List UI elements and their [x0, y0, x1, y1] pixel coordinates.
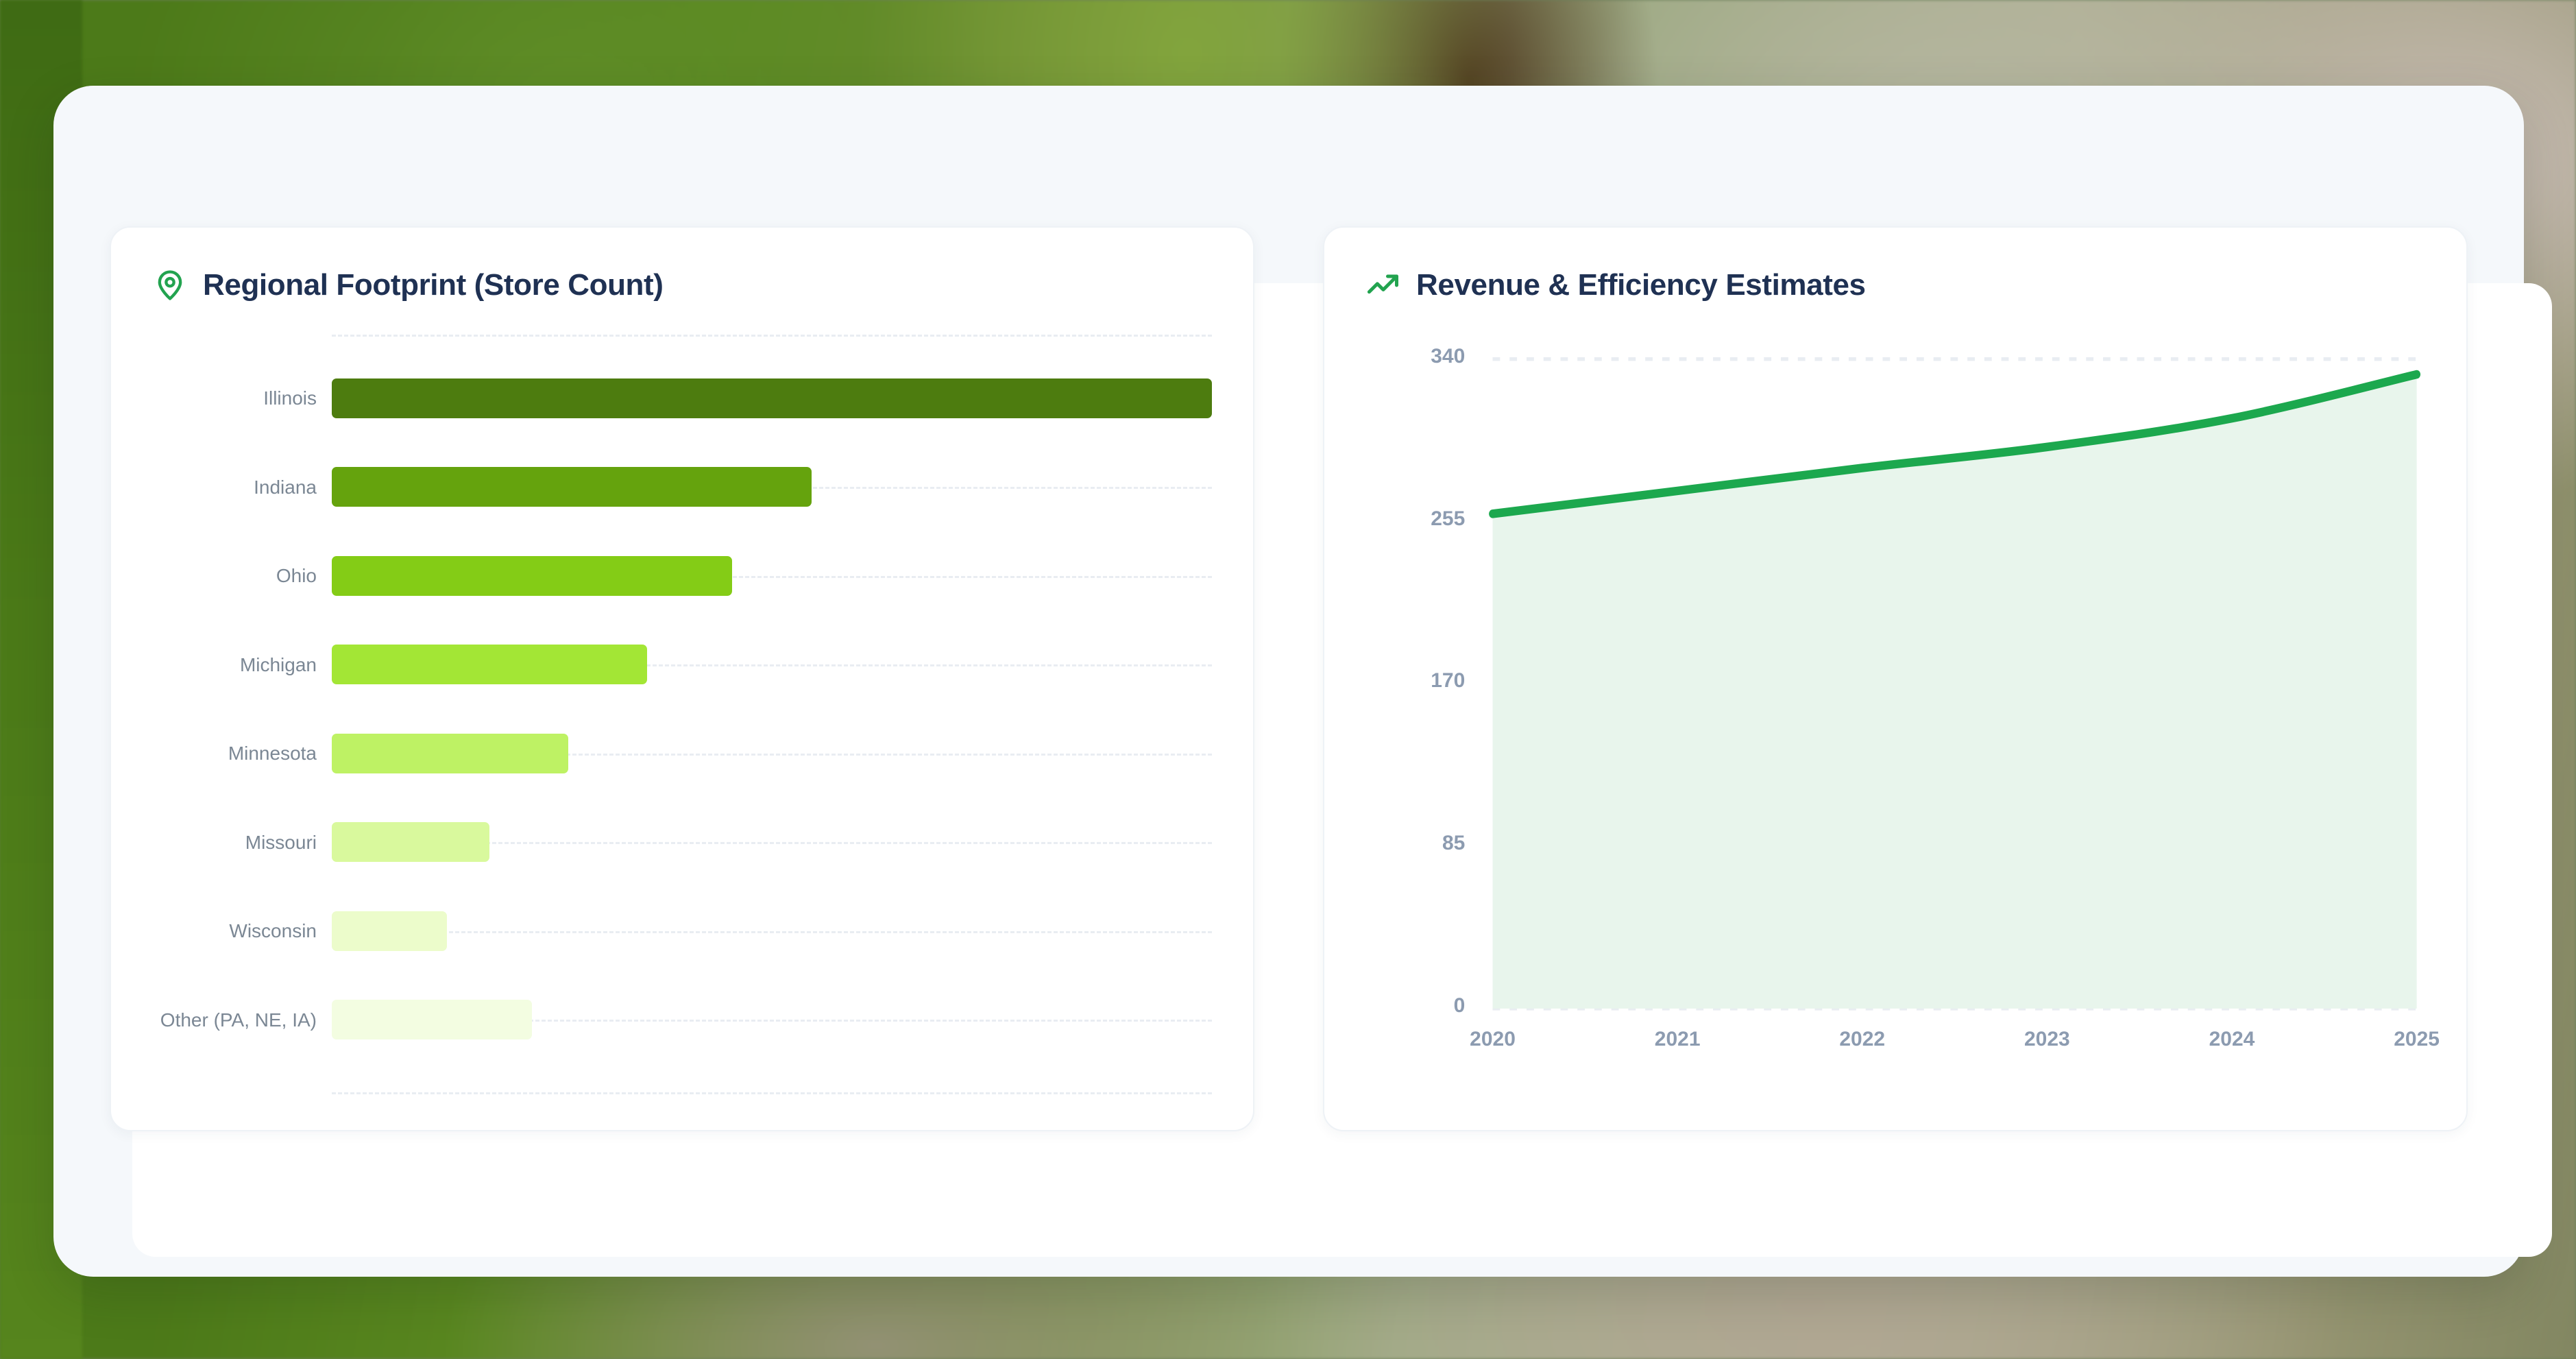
area-x-tick-label: 2025 [2369, 1028, 2465, 1051]
bar-fill[interactable] [332, 911, 447, 951]
area-y-tick-label: 255 [1365, 507, 1465, 531]
bar-track [332, 887, 1212, 976]
bar-row: Ohio [152, 531, 1212, 621]
revenue-efficiency-title: Revenue & Efficiency Estimates [1416, 268, 1866, 302]
bar-row: Indiana [152, 443, 1212, 532]
bar-fill[interactable] [332, 556, 732, 596]
area-x-tick-label: 2020 [1445, 1028, 1541, 1051]
bar-track [332, 709, 1212, 798]
bar-row: Minnesota [152, 709, 1212, 798]
bar-track [332, 354, 1212, 443]
bar-track [332, 531, 1212, 621]
area-y-tick-label: 170 [1365, 669, 1465, 693]
area-chart-svg [1365, 335, 2425, 1094]
bar-category-label: Missouri [152, 832, 332, 853]
revenue-efficiency-card: Revenue & Efficiency Estimates 340255170… [1323, 226, 2468, 1131]
bar-category-label: Illinois [152, 387, 332, 409]
bar-category-label: Other (PA, NE, IA) [152, 1009, 332, 1031]
revenue-efficiency-header: Revenue & Efficiency Estimates [1365, 267, 2425, 303]
bar-fill[interactable] [332, 734, 568, 773]
area-x-tick-label: 2022 [1814, 1028, 1910, 1051]
bar-category-label: Wisconsin [152, 920, 332, 941]
bar-row: Illinois [152, 354, 1212, 443]
regional-footprint-title: Regional Footprint (Store Count) [203, 268, 664, 302]
bar-fill[interactable] [332, 645, 647, 684]
bar-category-label: Michigan [152, 654, 332, 675]
bar-category-label: Minnesota [152, 743, 332, 764]
area-x-tick-label: 2023 [1999, 1028, 2095, 1051]
bar-fill[interactable] [332, 467, 812, 507]
trend-up-icon [1365, 267, 1401, 303]
cards-row: Regional Footprint (Store Count) Illinoi… [110, 226, 2468, 1131]
bar-grid-top [332, 335, 1212, 337]
bar-gridline [332, 931, 1212, 933]
bar-category-label: Ohio [152, 565, 332, 586]
area-fill-path [1493, 374, 2417, 1009]
bar-row: Wisconsin [152, 887, 1212, 976]
bar-fill[interactable] [332, 822, 489, 862]
bar-track [332, 621, 1212, 710]
area-y-tick-label: 0 [1365, 994, 1465, 1018]
bar-track [332, 443, 1212, 532]
bar-category-label: Indiana [152, 477, 332, 498]
regional-footprint-header: Regional Footprint (Store Count) [152, 267, 1212, 303]
bar-grid-bottom [332, 1092, 1212, 1094]
bar-row: Michigan [152, 621, 1212, 710]
area-x-tick-label: 2024 [2184, 1028, 2280, 1051]
bar-row: Other (PA, NE, IA) [152, 976, 1212, 1065]
area-x-tick-label: 2021 [1629, 1028, 1725, 1051]
bar-rows: IllinoisIndianaOhioMichiganMinnesotaMiss… [152, 354, 1212, 1064]
area-y-tick-label: 340 [1365, 345, 1465, 368]
map-pin-icon [152, 267, 188, 303]
bar-track [332, 976, 1212, 1065]
bar-row: Missouri [152, 798, 1212, 887]
bar-track [332, 798, 1212, 887]
regional-footprint-card: Regional Footprint (Store Count) Illinoi… [110, 226, 1254, 1131]
bar-chart: IllinoisIndianaOhioMichiganMinnesotaMiss… [152, 335, 1212, 1094]
area-y-tick-label: 85 [1365, 832, 1465, 855]
bar-fill[interactable] [332, 378, 1212, 418]
area-chart: 340255170850 202020212022202320242025 [1365, 335, 2425, 1094]
bar-fill[interactable] [332, 1000, 532, 1039]
